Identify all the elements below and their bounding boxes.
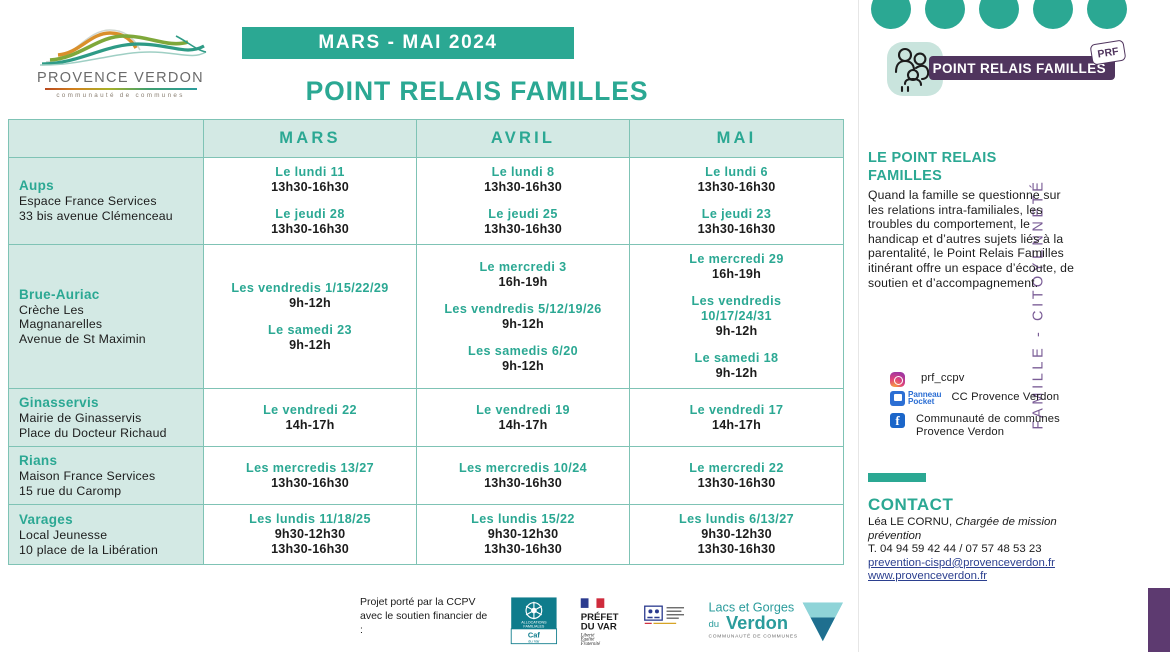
slot-time-line: 16h-19h bbox=[421, 275, 625, 290]
slot-cell-mars: Le vendredi 2214h-17h bbox=[204, 389, 417, 447]
slot-time-line: 9h-12h bbox=[208, 296, 412, 311]
slot-cell-avril: Les lundis 15/229h30-12h3013h30-16h30 bbox=[417, 505, 630, 565]
place-address-line: Maison France Services bbox=[19, 469, 203, 484]
slot-group: Le lundi 813h30-16h30 bbox=[421, 165, 625, 195]
place-address-line: Espace France Services bbox=[19, 194, 203, 209]
slot-when-line: Le lundi 6 bbox=[634, 165, 839, 180]
place-cell: GinasservisMairie de GinasservisPlace du… bbox=[9, 389, 204, 447]
svg-text:FAMILIALES: FAMILIALES bbox=[524, 625, 545, 629]
dot-2 bbox=[925, 0, 965, 29]
slot-group: Le vendredi 1914h-17h bbox=[421, 403, 625, 433]
slot-when-line: Le mercredi 22 bbox=[634, 461, 839, 476]
slot-group: Le mercredi 316h-19h bbox=[421, 260, 625, 290]
slot-group: Le jeudi 2813h30-16h30 bbox=[208, 207, 412, 237]
logo-divider bbox=[45, 88, 197, 90]
slot-group: Les vendredis 1/15/22/299h-12h bbox=[208, 281, 412, 311]
slot-time-line: 13h30-16h30 bbox=[208, 542, 412, 557]
contact-phone: T. 04 94 59 42 44 / 07 57 48 53 23 bbox=[868, 543, 1068, 557]
slot-time-line: 14h-17h bbox=[208, 418, 412, 433]
slot-time-line: 13h30-16h30 bbox=[208, 180, 412, 195]
slot-group: Le vendredi 2214h-17h bbox=[208, 403, 412, 433]
place-address-line: Avenue de St Maximin bbox=[19, 332, 203, 347]
slot-time-line: 9h30-12h30 bbox=[208, 527, 412, 542]
slot-time-line: 9h-12h bbox=[634, 366, 839, 381]
slot-cell-avril: Les mercredis 10/2413h30-16h30 bbox=[417, 447, 630, 505]
slot-time-line: 13h30-16h30 bbox=[421, 476, 625, 491]
place-address-line: Magnanarelles bbox=[19, 317, 203, 332]
place-address-line: 10 place de la Libération bbox=[19, 543, 203, 558]
slot-when-line: Le jeudi 25 bbox=[421, 207, 625, 222]
contact-person-line: Léa LE CORNU, Chargée de mission prévent… bbox=[868, 516, 1068, 543]
slot-when-line: Le vendredi 19 bbox=[421, 403, 625, 418]
slot-cell-mai: Le mercredi 2916h-19hLes vendredis10/17/… bbox=[630, 245, 844, 389]
slot-when-line: Le jeudi 23 bbox=[634, 207, 839, 222]
place-address-line: Local Jeunesse bbox=[19, 528, 203, 543]
dot-4 bbox=[1033, 0, 1073, 29]
slot-when-line: Le samedi 23 bbox=[208, 323, 412, 338]
prf-tag-label: PRF bbox=[1090, 39, 1127, 65]
slot-time-line: 13h30-16h30 bbox=[421, 542, 625, 557]
slot-cell-mars: Les vendredis 1/15/22/299h-12hLe samedi … bbox=[204, 245, 417, 389]
slot-time-line: 13h30-16h30 bbox=[634, 542, 839, 557]
place-address: Mairie de GinasservisPlace du Docteur Ri… bbox=[19, 411, 203, 440]
logo-mark-icon bbox=[28, 22, 213, 72]
slot-group: Les vendredis 5/12/19/269h-12h bbox=[421, 302, 625, 332]
slot-time-line: 13h30-16h30 bbox=[634, 180, 839, 195]
slot-group: Le lundi 1113h30-16h30 bbox=[208, 165, 412, 195]
social-row-instagram[interactable]: prf_ccpv bbox=[890, 372, 1120, 387]
slot-time-line: 13h30-16h30 bbox=[421, 180, 625, 195]
lacs-et-gorges-du-verdon-logo-icon: Lacs et Gorges du Verdon COMMUNAUTÉ DE C… bbox=[705, 592, 845, 650]
decorative-dots bbox=[871, 0, 1127, 29]
svg-text:du Var: du Var bbox=[528, 638, 540, 643]
panneaupocket-icon bbox=[890, 391, 905, 406]
contact-person: Léa LE CORNU, bbox=[868, 516, 955, 528]
slot-group: Le vendredi 1714h-17h bbox=[634, 403, 839, 433]
column-header-place bbox=[9, 120, 204, 158]
date-range-banner: MARS - MAI 2024 bbox=[242, 27, 574, 59]
social-links: prf_ccpv Panneau Pocket CC Provence Verd… bbox=[890, 372, 1120, 443]
svg-text:COMMUNAUTÉ DE COMMUNES: COMMUNAUTÉ DE COMMUNES bbox=[709, 633, 798, 640]
place-address: Crèche LesMagnanarellesAvenue de St Maxi… bbox=[19, 303, 203, 347]
facebook-icon: f bbox=[890, 413, 905, 428]
place-address-line: Place du Docteur Richaud bbox=[19, 426, 203, 441]
slot-when-line: Le mercredi 3 bbox=[421, 260, 625, 275]
slot-cell-avril: Le mercredi 316h-19hLes vendredis 5/12/1… bbox=[417, 245, 630, 389]
place-address: Maison France Services15 rue du Caromp bbox=[19, 469, 203, 498]
slot-when-line: Les mercredis 10/24 bbox=[421, 461, 625, 476]
slot-group: Les samedis 6/209h-12h bbox=[421, 344, 625, 374]
slot-when-line: Les lundis 15/22 bbox=[421, 512, 625, 527]
logo-subtitle: communauté de communes bbox=[28, 92, 213, 99]
table-row: VaragesLocal Jeunesse10 place de la Libé… bbox=[9, 505, 844, 565]
slot-cell-mai: Les lundis 6/13/279h30-12h3013h30-16h30 bbox=[630, 505, 844, 565]
contact-website-link[interactable]: www.provenceverdon.fr bbox=[868, 570, 1068, 584]
place-address-line: Mairie de Ginasservis bbox=[19, 411, 203, 426]
slot-group: Le lundi 613h30-16h30 bbox=[634, 165, 839, 195]
table-row: AupsEspace France Services33 bis avenue … bbox=[9, 158, 844, 245]
slot-time-line: 9h-12h bbox=[421, 359, 625, 374]
panneaupocket-brand: Panneau Pocket bbox=[908, 391, 941, 406]
slot-when-line: Les samedis 6/20 bbox=[421, 344, 625, 359]
slot-group: Les mercredis 10/2413h30-16h30 bbox=[421, 461, 625, 491]
slot-when-line: Le vendredi 22 bbox=[208, 403, 412, 418]
place-address: Local Jeunesse10 place de la Libération bbox=[19, 528, 203, 557]
slot-cell-mars: Le lundi 1113h30-16h30Le jeudi 2813h30-1… bbox=[204, 158, 417, 245]
slot-group: Les lundis 15/229h30-12h3013h30-16h30 bbox=[421, 512, 625, 557]
table-row: GinasservisMairie de GinasservisPlace du… bbox=[9, 389, 844, 447]
schedule-table: MARS AVRIL MAI AupsEspace France Service… bbox=[8, 119, 844, 565]
place-name: Rians bbox=[19, 453, 203, 468]
slot-when-line: Les mercredis 13/27 bbox=[208, 461, 412, 476]
place-address-line: Crèche Les bbox=[19, 303, 203, 318]
slot-when-line: Les vendredis 1/15/22/29 bbox=[208, 281, 412, 296]
slot-cell-mai: Le vendredi 1714h-17h bbox=[630, 389, 844, 447]
slot-cell-mai: Le mercredi 2213h30-16h30 bbox=[630, 447, 844, 505]
slot-time-line: 13h30-16h30 bbox=[208, 476, 412, 491]
slot-group: Le samedi 239h-12h bbox=[208, 323, 412, 353]
place-name: Aups bbox=[19, 178, 203, 193]
place-cell: RiansMaison France Services15 rue du Car… bbox=[9, 447, 204, 505]
slot-cell-mai: Le lundi 613h30-16h30Le jeudi 2313h30-16… bbox=[630, 158, 844, 245]
slot-group: Les lundis 6/13/279h30-12h3013h30-16h30 bbox=[634, 512, 839, 557]
instagram-icon bbox=[890, 372, 905, 387]
place-cell: VaragesLocal Jeunesse10 place de la Libé… bbox=[9, 505, 204, 565]
place-name: Ginasservis bbox=[19, 395, 203, 410]
logo-wordmark: PROVENCE VERDON bbox=[28, 70, 213, 86]
table-body: AupsEspace France Services33 bis avenue … bbox=[9, 158, 844, 565]
dot-1 bbox=[871, 0, 911, 29]
france-services-logo-icon bbox=[643, 592, 695, 650]
side-purple-accent bbox=[1148, 588, 1170, 652]
slot-group: Les lundis 11/18/259h30-12h3013h30-16h30 bbox=[208, 512, 412, 557]
place-address: Espace France Services33 bis avenue Clém… bbox=[19, 194, 203, 223]
prefet-du-var-logo-icon: PRÉFET DU VAR Liberté Égalité Fraternité bbox=[579, 592, 633, 650]
place-cell: Brue-AuriacCrèche LesMagnanarellesAvenue… bbox=[9, 245, 204, 389]
slot-cell-avril: Le vendredi 1914h-17h bbox=[417, 389, 630, 447]
footer-credit-text: Projet porté par la CCPV avec le soutien… bbox=[360, 592, 489, 637]
svg-text:Verdon: Verdon bbox=[726, 612, 788, 633]
slot-when-line: Les vendredis bbox=[634, 294, 839, 309]
svg-text:DU VAR: DU VAR bbox=[581, 622, 617, 633]
table-row: RiansMaison France Services15 rue du Car… bbox=[9, 447, 844, 505]
svg-text:du: du bbox=[709, 619, 720, 630]
slot-time-line: 14h-17h bbox=[421, 418, 625, 433]
slot-group: Le mercredi 2213h30-16h30 bbox=[634, 461, 839, 491]
facebook-page-label: Communauté de communes Provence Verdon bbox=[916, 413, 1076, 439]
slot-group: Le jeudi 2513h30-16h30 bbox=[421, 207, 625, 237]
slot-time-line: 16h-19h bbox=[634, 267, 839, 282]
slot-time-line: 9h-12h bbox=[634, 324, 839, 339]
slot-when-line: Le vendredi 17 bbox=[634, 403, 839, 418]
slot-time-line: 9h-12h bbox=[208, 338, 412, 353]
place-name: Brue-Auriac bbox=[19, 287, 203, 302]
instagram-handle: prf_ccpv bbox=[921, 372, 964, 385]
contact-email-link[interactable]: prevention-cispd@provenceverdon.fr bbox=[868, 557, 1068, 571]
slot-cell-avril: Le lundi 813h30-16h30Le jeudi 2513h30-16… bbox=[417, 158, 630, 245]
slot-time-line: 13h30-16h30 bbox=[634, 222, 839, 237]
provence-verdon-logo: PROVENCE VERDON communauté de communes bbox=[28, 22, 213, 102]
about-body-text: Quand la famille se questionne sur les r… bbox=[868, 188, 1080, 290]
panneaupocket-brand-line2: Pocket bbox=[908, 398, 941, 405]
contact-divider bbox=[868, 473, 926, 482]
prf-banner-label: POINT RELAIS FAMILLES bbox=[929, 56, 1115, 80]
place-name: Varages bbox=[19, 512, 203, 527]
footer-partners: Projet porté par la CCPV avec le soutien… bbox=[360, 592, 845, 652]
slot-group: Les vendredis10/17/24/319h-12h bbox=[634, 294, 839, 339]
caf-du-var-logo-icon: ALLOCATIONS FAMILIALES Caf du Var bbox=[499, 592, 569, 650]
slot-when-line: Le mercredi 29 bbox=[634, 252, 839, 267]
panneaupocket-label: CC Provence Verdon bbox=[951, 391, 1059, 404]
slot-group: Le samedi 189h-12h bbox=[634, 351, 839, 381]
slot-time-line: 13h30-16h30 bbox=[208, 222, 412, 237]
column-header-mai: MAI bbox=[630, 120, 844, 158]
slot-time-line: 13h30-16h30 bbox=[634, 476, 839, 491]
slot-group: Le jeudi 2313h30-16h30 bbox=[634, 207, 839, 237]
place-address-line: 33 bis avenue Clémenceau bbox=[19, 209, 203, 224]
slot-time-line: 9h30-12h30 bbox=[634, 527, 839, 542]
slot-time-line: 14h-17h bbox=[634, 418, 839, 433]
place-cell: AupsEspace France Services33 bis avenue … bbox=[9, 158, 204, 245]
slot-when-line: Le samedi 18 bbox=[634, 351, 839, 366]
page-title: POINT RELAIS FAMILLES bbox=[242, 76, 712, 107]
slot-group: Les mercredis 13/2713h30-16h30 bbox=[208, 461, 412, 491]
slot-when-line: Le lundi 11 bbox=[208, 165, 412, 180]
dot-3 bbox=[979, 0, 1019, 29]
place-address-line: 15 rue du Caromp bbox=[19, 484, 203, 499]
slot-cell-mars: Les lundis 11/18/259h30-12h3013h30-16h30 bbox=[204, 505, 417, 565]
slot-time-line: 9h-12h bbox=[421, 317, 625, 332]
slot-when-line: Les lundis 11/18/25 bbox=[208, 512, 412, 527]
column-header-avril: AVRIL bbox=[417, 120, 630, 158]
slot-when-line: Le jeudi 28 bbox=[208, 207, 412, 222]
table-row: Brue-AuriacCrèche LesMagnanarellesAvenue… bbox=[9, 245, 844, 389]
about-heading: LE POINT RELAIS FAMILLES bbox=[868, 150, 1028, 185]
dot-5 bbox=[1087, 0, 1127, 29]
slot-when-line: Le lundi 8 bbox=[421, 165, 625, 180]
contact-heading: CONTACT bbox=[868, 495, 953, 515]
slot-when-line: Les vendredis 5/12/19/26 bbox=[421, 302, 625, 317]
social-row-panneaupocket[interactable]: Panneau Pocket CC Provence Verdon bbox=[890, 391, 1120, 406]
social-row-facebook[interactable]: f Communauté de communes Provence Verdon bbox=[890, 413, 1120, 439]
table-header-row: MARS AVRIL MAI bbox=[9, 120, 844, 158]
slot-time-line: 13h30-16h30 bbox=[421, 222, 625, 237]
slot-when-line: 10/17/24/31 bbox=[634, 309, 839, 324]
svg-text:Fraternité: Fraternité bbox=[580, 642, 601, 647]
slot-when-line: Les lundis 6/13/27 bbox=[634, 512, 839, 527]
document-body: PROVENCE VERDON communauté de communes M… bbox=[0, 0, 855, 652]
prf-badge: POINT RELAIS FAMILLES PRF bbox=[887, 40, 1137, 98]
column-header-mars: MARS bbox=[204, 120, 417, 158]
slot-cell-mars: Les mercredis 13/2713h30-16h30 bbox=[204, 447, 417, 505]
slot-group: Le mercredi 2916h-19h bbox=[634, 252, 839, 282]
contact-details: Léa LE CORNU, Chargée de mission prévent… bbox=[868, 516, 1068, 584]
slot-time-line: 9h30-12h30 bbox=[421, 527, 625, 542]
